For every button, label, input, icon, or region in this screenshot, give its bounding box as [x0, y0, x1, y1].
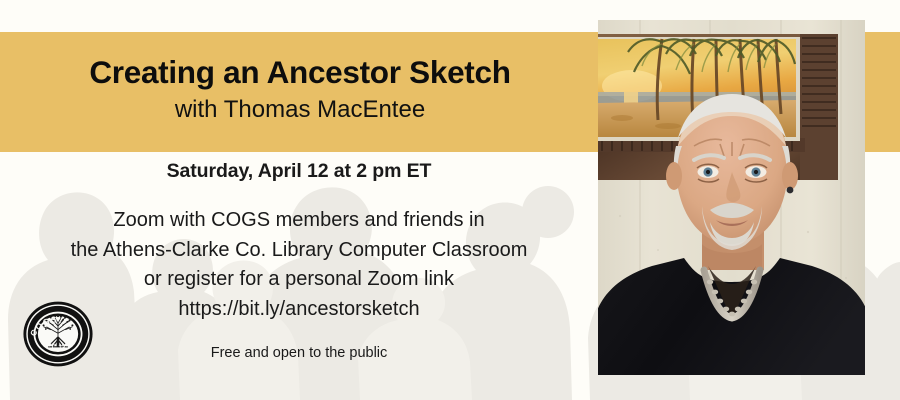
- event-details-line-2: the Athens-Clarke Co. Library Computer C…: [0, 236, 598, 265]
- event-banner: Creating an Ancestor Sketch with Thomas …: [0, 0, 900, 400]
- page-title: Creating an Ancestor Sketch: [89, 55, 510, 90]
- event-details-line-1: Zoom with COGS members and friends in: [0, 206, 598, 235]
- presenter-subtitle: with Thomas MacEntee: [175, 95, 425, 125]
- event-details-line-3: or register for a personal Zoom link: [0, 265, 598, 294]
- cogs-seal-logo[interactable]: COGS EST. 1987: [22, 298, 94, 370]
- event-datetime: Saturday, April 12 at 2 pm ET: [0, 160, 598, 183]
- header-text-group: Creating an Ancestor Sketch with Thomas …: [0, 32, 600, 152]
- speaker-photo: [598, 20, 865, 375]
